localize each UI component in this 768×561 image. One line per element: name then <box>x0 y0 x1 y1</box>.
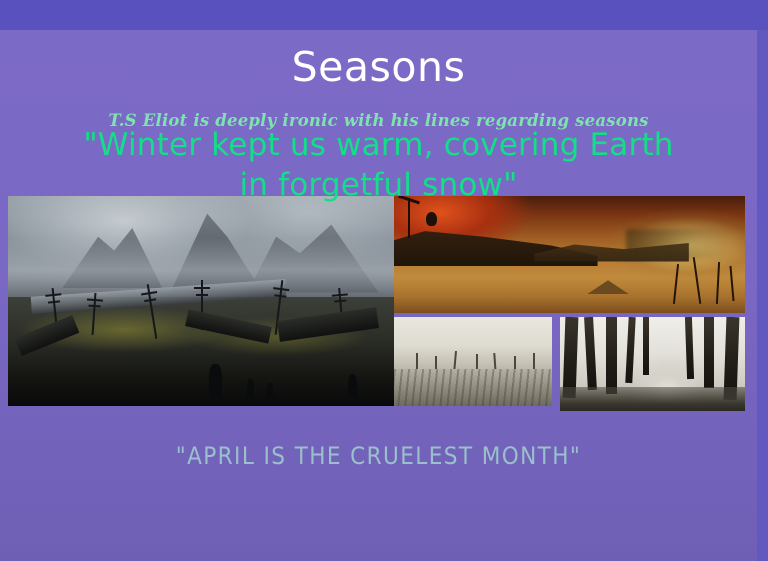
figure-silhouette <box>209 364 222 398</box>
figure-silhouette <box>348 374 357 398</box>
muddy-road <box>560 387 745 411</box>
churned-mud <box>394 369 552 406</box>
gallery-image-fiery-painted-landscape[interactable] <box>394 196 745 313</box>
bare-tree <box>408 198 410 238</box>
bottom-quote: "APRIL IS THE CRUELEST MONTH" <box>0 442 757 470</box>
page-body: Seasons T.S Eliot is deeply ironic with … <box>0 30 757 561</box>
blasted-tree-trunk <box>643 317 649 375</box>
page-header: Seasons T.S Eliot is deeply ironic with … <box>0 30 757 130</box>
figure-silhouette <box>267 383 273 398</box>
gallery-image-post-apocalyptic-landscape[interactable] <box>8 196 394 406</box>
gallery-image-pale-wasteland-photo[interactable] <box>394 317 552 406</box>
hanging-object <box>426 212 437 226</box>
image-gallery <box>8 196 745 411</box>
top-chrome-strip <box>0 0 768 30</box>
figure-silhouette <box>247 379 254 398</box>
right-backdrop-sliver <box>757 30 768 561</box>
gallery-image-blasted-tree-avenue-photo[interactable] <box>560 317 745 411</box>
blasted-tree-trunk <box>606 317 617 394</box>
page-subtitle: T.S Eliot is deeply ironic with his line… <box>0 111 757 130</box>
page-title: Seasons <box>0 44 757 91</box>
smoke-plume <box>626 229 731 259</box>
blasted-tree-trunk <box>704 317 714 388</box>
overlay-quote-line-1: "Winter kept us warm, covering Earth <box>83 127 673 163</box>
overlay-quote: "Winter kept us warm, covering Earth in … <box>0 126 757 205</box>
